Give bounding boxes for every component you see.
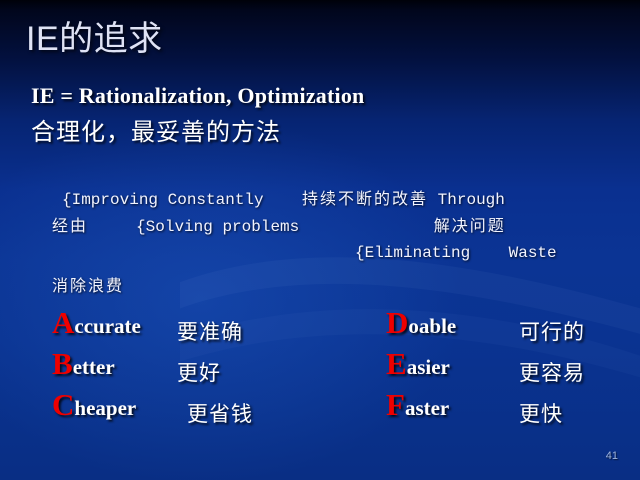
principle-1-english: {Improving Constantly [62, 191, 264, 209]
term-rest: asier [407, 355, 450, 379]
principle-2-chinese: 解决问题 [434, 218, 506, 235]
term-rest: aster [405, 396, 449, 420]
principle-line-2: 经由 {Solving problems 解决问题 [52, 213, 506, 241]
subtitle-english: IE = Rationalization, Optimization [31, 82, 364, 110]
gloss-doable: 可行的 [519, 316, 585, 346]
slide: IE的追求 IE = Rationalization, Optimization… [0, 0, 640, 480]
abc-column: Accurate 要准确 Better 更好 Cheaper 更省钱 [52, 314, 141, 437]
term-rest: heaper [74, 396, 136, 420]
capital-letter: F [386, 387, 405, 422]
term-doable: Doable [386, 314, 456, 339]
page-title: IE的追求 [26, 16, 163, 62]
principles-block: {Improving Constantly 持续不断的改善 Through 经由… [0, 186, 640, 306]
gloss-accurate: 要准确 [177, 316, 243, 346]
term-rest: ccurate [74, 314, 140, 338]
capital-letter: D [386, 305, 408, 340]
term-accurate: Accurate [52, 314, 141, 339]
capital-letter: B [52, 346, 73, 381]
term-better: Better [52, 355, 115, 380]
gloss-faster: 更快 [519, 398, 563, 428]
principle-2-english: {Solving problems [136, 218, 299, 236]
gloss-better: 更好 [177, 357, 221, 387]
term-cheaper: Cheaper [52, 396, 136, 421]
list-item: Faster 更快 [386, 396, 456, 437]
term-rest: etter [73, 355, 115, 379]
def-column: Doable 可行的 Easier 更容易 Faster 更快 [386, 314, 456, 437]
principle-1-chinese: 持续不断的改善 [302, 191, 428, 208]
principle-line-1: {Improving Constantly 持续不断的改善 Through [62, 186, 505, 214]
term-faster: Faster [386, 396, 449, 421]
term-easier: Easier [386, 355, 450, 380]
page-number: 41 [606, 450, 618, 462]
principle-3-english-2: Waste [509, 244, 557, 262]
capital-letter: C [52, 387, 74, 422]
principle-1-tail: Through [438, 191, 505, 209]
principle-line-4: 消除浪费 [52, 273, 124, 300]
principle-3-english: {Eliminating [355, 244, 470, 262]
capital-letter: A [52, 305, 74, 340]
gloss-cheaper: 更省钱 [187, 398, 253, 428]
capital-letter: E [386, 346, 407, 381]
principle-2-chinese-lead: 经由 [52, 218, 88, 235]
abcdef-columns: Accurate 要准确 Better 更好 Cheaper 更省钱 Doabl… [0, 314, 640, 444]
term-rest: oable [408, 314, 456, 338]
principle-line-3: {Eliminating Waste [355, 240, 557, 267]
subtitle-chinese: 合理化，最妥善的方法 [31, 118, 281, 148]
list-item: Cheaper 更省钱 [52, 396, 141, 437]
gloss-easier: 更容易 [519, 357, 585, 387]
